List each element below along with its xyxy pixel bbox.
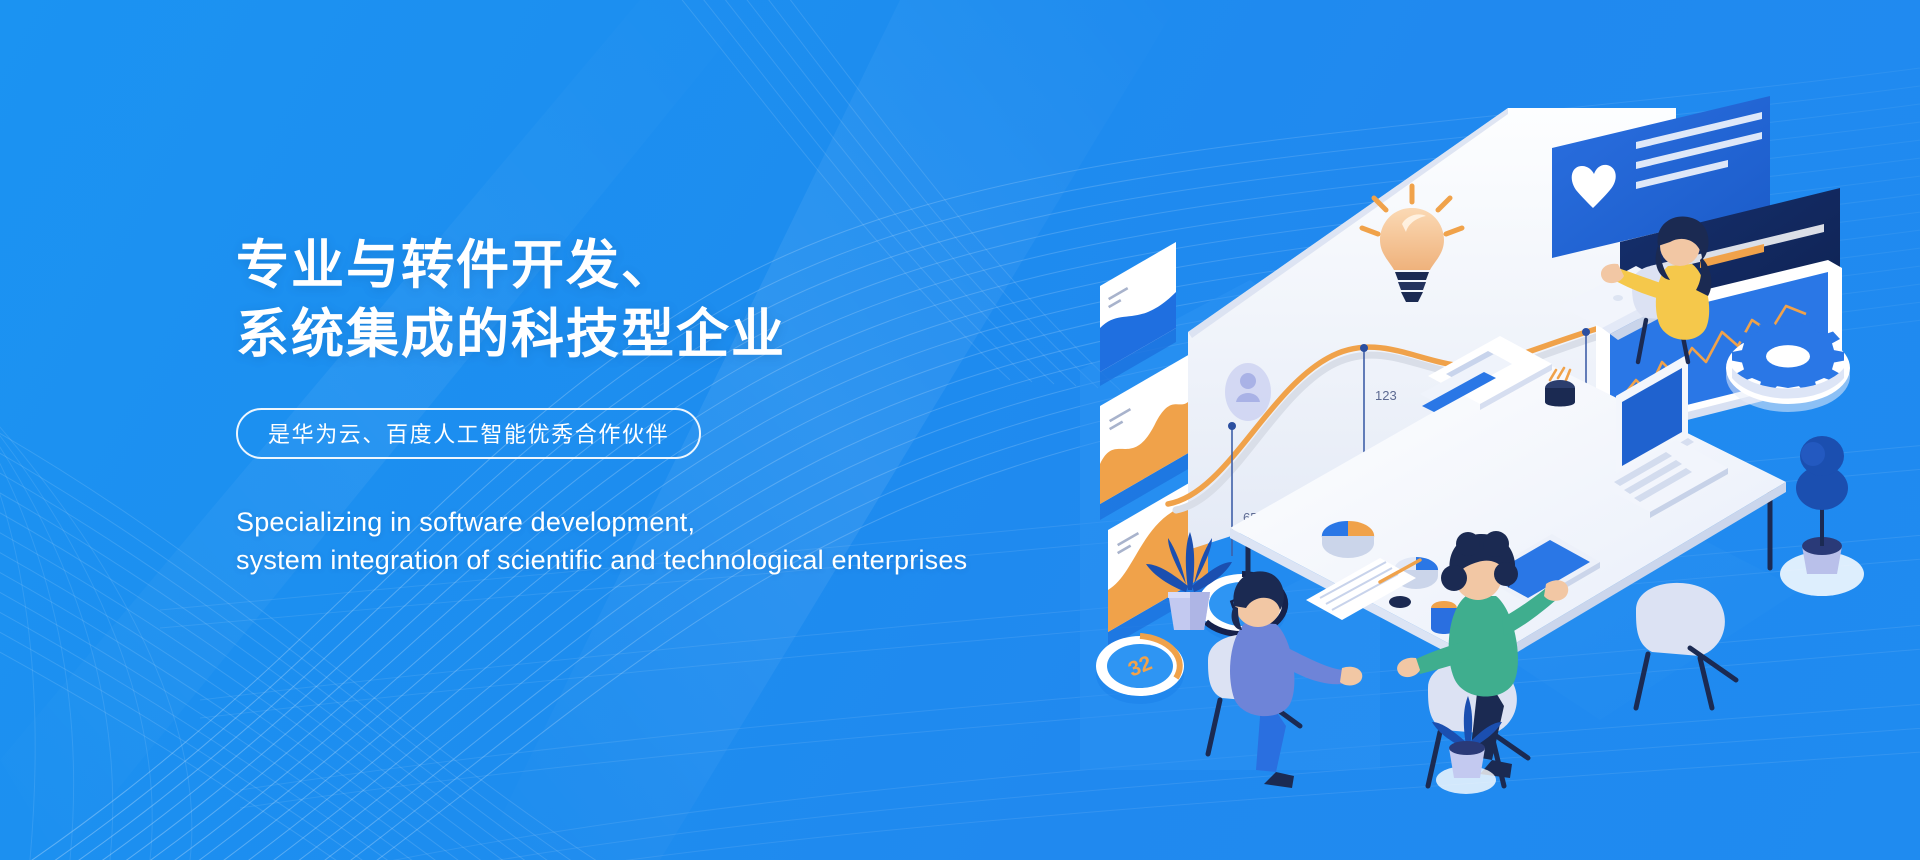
hero-banner: 专业与转件开发、 系统集成的科技型企业 是华为云、百度人工智能优秀合作伙伴 Sp… [0, 0, 1920, 860]
page-title: 专业与转件开发、 系统集成的科技型企业 [236, 232, 1156, 370]
mouse [1389, 596, 1411, 608]
subtitle-line-2: system integration of scientific and tec… [236, 542, 1156, 580]
hero-illustration: 65 123 97 81 [1080, 70, 1920, 770]
hero-copy: 专业与转件开发、 系统集成的科技型企业 是华为云、百度人工智能优秀合作伙伴 Sp… [236, 232, 1156, 579]
partner-badge: 是华为云、百度人工智能优秀合作伙伴 [236, 408, 701, 459]
chart-marker-label: 123 [1375, 388, 1397, 403]
topiary-icon [1780, 436, 1864, 596]
gear-icon [1726, 321, 1850, 412]
headline-line-1: 专业与转件开发、 [236, 232, 1156, 301]
hero-subtitle: Specializing in software development, sy… [236, 504, 1156, 580]
subtitle-line-1: Specializing in software development, [236, 504, 1156, 542]
pie-chart-small [1322, 521, 1374, 558]
avatar-icon [1225, 363, 1271, 421]
isometric-scene: 65 123 97 81 [1080, 70, 1920, 770]
gauge-32: 32 [1096, 636, 1184, 704]
headline-line-2: 系统集成的科技型企业 [236, 301, 1156, 370]
